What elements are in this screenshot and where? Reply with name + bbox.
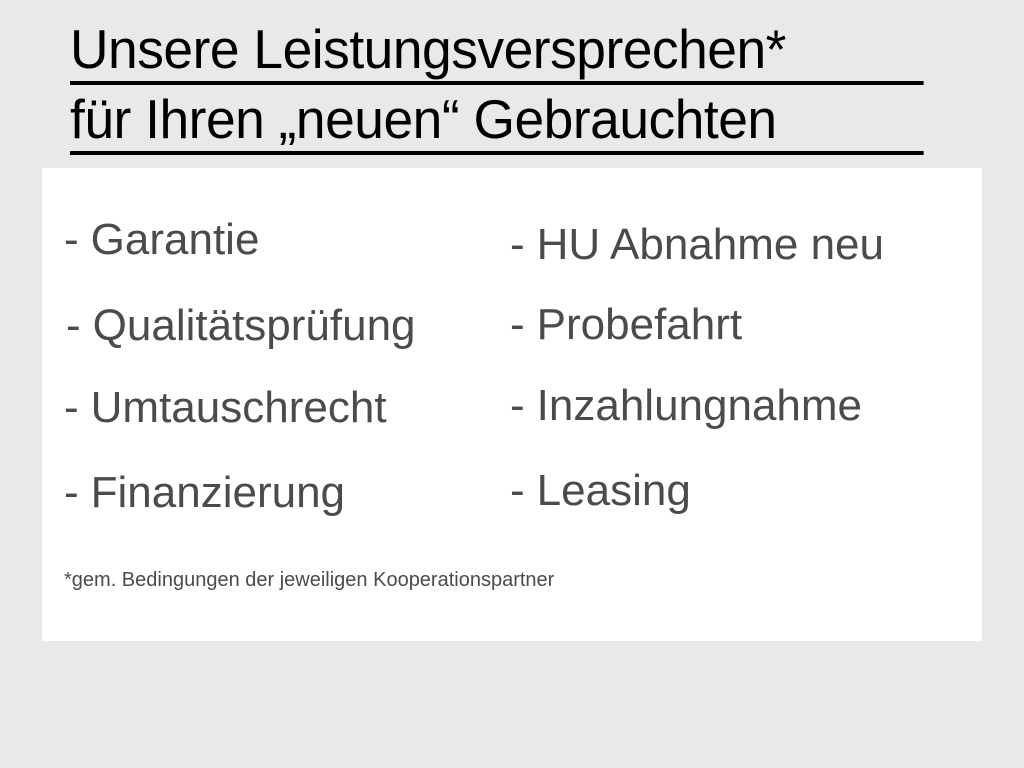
list-item: - Qualitätsprüfung xyxy=(66,302,416,350)
list-item-label: HU Abnahme neu xyxy=(537,221,884,269)
dash-bullet-icon: - xyxy=(510,467,525,515)
list-item-label: Probefahrt xyxy=(537,301,742,349)
benefits-column-right: - HU Abnahme neu - Probefahrt - Inzahlun… xyxy=(510,168,970,641)
content-panel: - Garantie - Qualitätsprüfung - Umtausch… xyxy=(42,168,982,641)
list-item: - Finanzierung xyxy=(64,469,345,517)
slide-root: Unsere Leistungsversprechen* für Ihren „… xyxy=(0,0,1024,768)
list-item: - Leasing xyxy=(510,467,691,515)
list-item-label: Umtauschrecht xyxy=(91,384,387,432)
dash-bullet-icon: - xyxy=(64,384,79,432)
list-item: - Inzahlungnahme xyxy=(510,382,862,430)
slide-title: Unsere Leistungsversprechen* für Ihren „… xyxy=(70,18,954,155)
list-item: - Probefahrt xyxy=(510,301,742,349)
dash-bullet-icon: - xyxy=(66,302,81,350)
dash-bullet-icon: - xyxy=(510,301,525,349)
list-item: - Garantie xyxy=(64,216,259,264)
list-item-label: Garantie xyxy=(91,216,260,264)
list-item-label: Qualitätsprüfung xyxy=(93,302,416,350)
list-item: - HU Abnahme neu xyxy=(510,221,884,269)
dash-bullet-icon: - xyxy=(64,216,79,264)
dash-bullet-icon: - xyxy=(64,469,79,517)
title-line-2: für Ihren „neuen“ Gebrauchten xyxy=(70,88,924,155)
title-line-1: Unsere Leistungsversprechen* xyxy=(70,18,924,85)
dash-bullet-icon: - xyxy=(510,382,525,430)
list-item-label: Finanzierung xyxy=(91,469,345,517)
list-item-label: Leasing xyxy=(537,467,691,515)
list-item: - Umtauschrecht xyxy=(64,384,387,432)
dash-bullet-icon: - xyxy=(510,221,525,269)
footnote-text: *gem. Bedingungen der jeweiligen Koopera… xyxy=(64,568,554,592)
list-item-label: Inzahlungnahme xyxy=(537,382,862,430)
